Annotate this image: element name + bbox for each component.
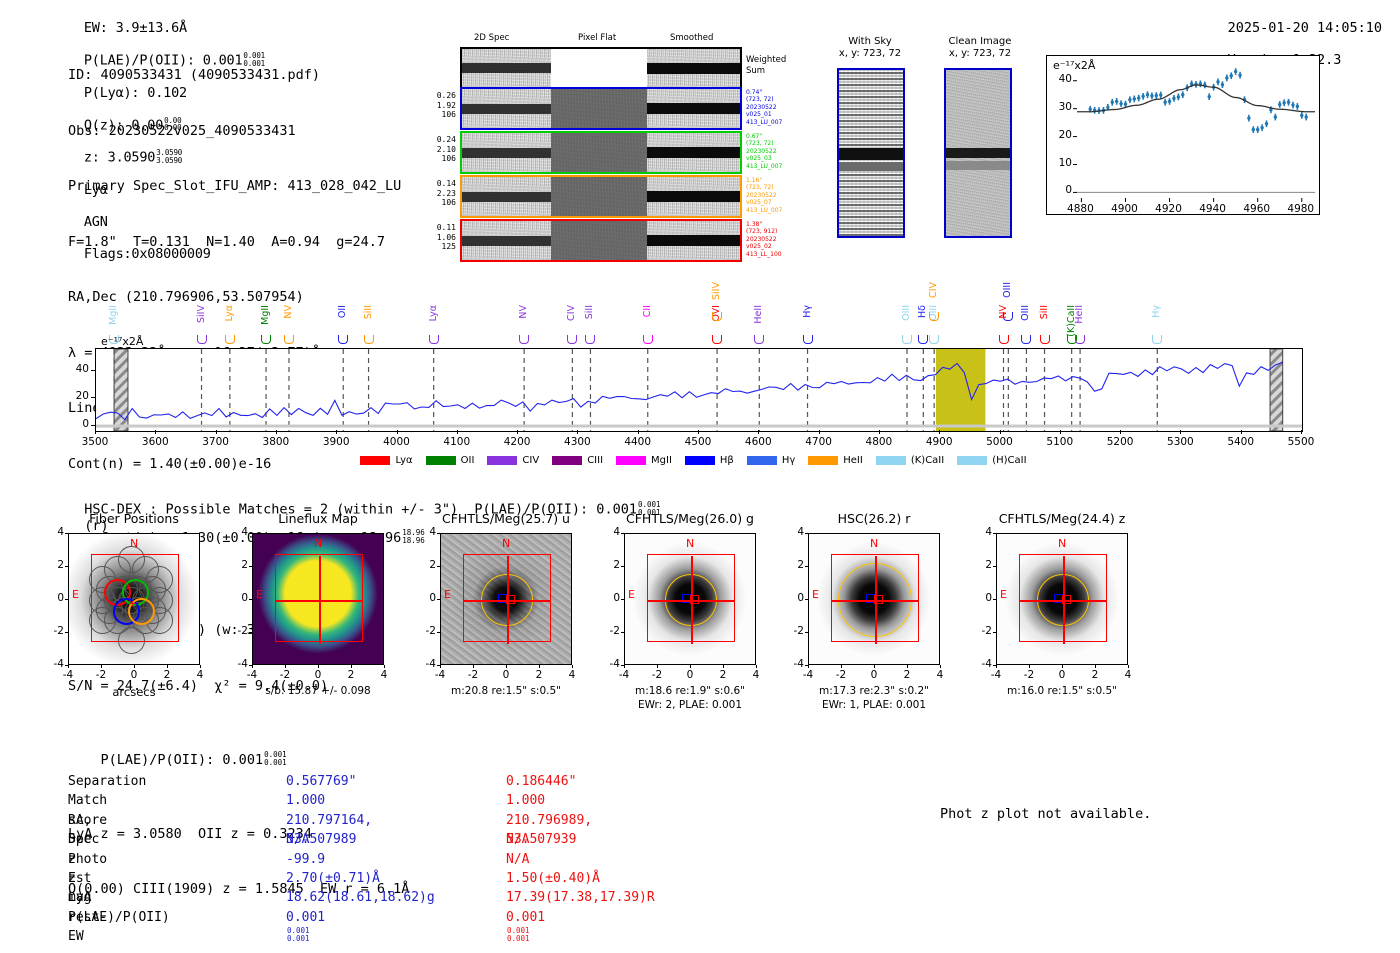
cutout-ytick-mark: [621, 566, 624, 567]
legend-swatch: [616, 456, 646, 465]
spectrum-xtick: 4200: [495, 436, 539, 448]
cutout-sublabel: m:18.6 re:1.9" s:0.6": [590, 685, 790, 697]
line-fit-ytick: 20: [1050, 129, 1072, 141]
spectrum-line-label: SiII: [363, 305, 374, 319]
spectrum-line-bracket: [929, 312, 939, 321]
spectrum-line-label: Hδ: [917, 305, 928, 318]
cutout-ytick: 2: [598, 559, 620, 571]
cutout-east-label: E: [444, 588, 451, 601]
fiber-2dspec: [462, 221, 551, 260]
spec2d-fiber-row: [460, 131, 742, 174]
spectrum-line-label: SiII: [1039, 305, 1050, 319]
cutout-north-label: N: [314, 537, 322, 550]
fiber-left-stats: 0.111.06125: [416, 223, 456, 252]
legend-label: Lyα: [395, 455, 412, 466]
cutout-xtick: 2: [709, 669, 737, 681]
spectrum-line-label: OIII: [901, 305, 912, 321]
info-primary-spec-slot: Primary Spec_Slot_IFU_AMP: 413_028_042_L…: [68, 177, 425, 196]
cutout-ytick-mark: [805, 665, 808, 666]
spectrum-line-bracket: [338, 335, 348, 344]
cutout-ytick-mark: [249, 665, 252, 666]
match-row-blue-value: 0.567769": [286, 772, 356, 791]
cutout-xtick: -2: [271, 669, 299, 681]
cutout-xtick: -4: [54, 669, 82, 681]
spectrum-xtick: 4700: [797, 436, 841, 448]
cutout-ytick-mark: [805, 533, 808, 534]
spec2d-fiber-row: [460, 87, 742, 130]
legend-entry: HeII: [808, 455, 863, 466]
cutout-axes[interactable]: [996, 533, 1128, 665]
cutout-ytick-mark: [437, 632, 440, 633]
cutout-xtick: -2: [87, 669, 115, 681]
cutout-ytick: -4: [42, 658, 64, 670]
spectrum-line-bracket: [1152, 335, 1162, 344]
cutout-xtick: -4: [426, 669, 454, 681]
match-row-red-value: 1.000: [506, 791, 545, 810]
spectrum-ytick-mark: [91, 370, 95, 371]
cutout-xtick: 0: [304, 669, 332, 681]
spectrum-xtick-mark: [1120, 430, 1121, 434]
line-fit-xtick: 4880: [1064, 203, 1096, 215]
legend-swatch: [808, 456, 838, 465]
cutout-sublabel: m:16.0 re:1.5" s:0.5": [962, 685, 1162, 697]
cutout-ytick-mark: [805, 566, 808, 567]
cutout-xtick: -2: [827, 669, 855, 681]
with-sky-image: [837, 68, 905, 238]
cutout-xtick: -4: [610, 669, 638, 681]
cutout-ytick: -2: [414, 625, 436, 637]
cutout-sublabel: m:20.8 re:1.5" s:0.5": [406, 685, 606, 697]
match-row-label: mag: [68, 888, 91, 907]
legend-label: Hβ: [720, 455, 734, 466]
spectrum-line-label: OIII: [1002, 282, 1013, 298]
cutout-ytick-mark: [65, 566, 68, 567]
spectrum-xtick: 4600: [736, 436, 780, 448]
spectrum-xtick: 5000: [978, 436, 1022, 448]
legend-swatch: [552, 456, 582, 465]
match-row-blue-value: 0.0010.0010.001: [286, 908, 325, 947]
info-seeing-params: F=1.8" T=0.131 N=1.40 A=0.94 g=24.7: [68, 233, 425, 252]
match-row-blue-value: 2.70(±0.71)Å: [286, 869, 380, 888]
spectrum-line-label: OIII: [1020, 305, 1031, 321]
spectrum-xtick-mark: [819, 430, 820, 434]
photz-note: Phot z plot not available.: [940, 806, 1151, 822]
cutout-east-label: E: [72, 588, 79, 601]
spectrum-line-bracket: [712, 312, 722, 321]
spectrum-xtick: 4400: [616, 436, 660, 448]
cutout-xtick-mark: [1062, 665, 1063, 668]
fiber-right-meta: 1.16"(723, 72)20230522v025_07413_LU_007: [746, 177, 816, 214]
match-row-red-value: 17.39(17.38,17.39)R: [506, 888, 655, 907]
spectrum-xtick-mark: [155, 430, 156, 434]
match-row-red-value: N/A: [506, 850, 529, 869]
spectrum-line-label: Hγ: [1151, 305, 1162, 318]
cutout-crosshair-v: [1063, 556, 1065, 643]
line-fit-ytick: 30: [1050, 101, 1072, 113]
spectrum-line-label: NV: [283, 305, 294, 319]
cutout-title: CFHTLS/Meg(24.4) z: [968, 511, 1156, 526]
cutout-xtick: 2: [1081, 669, 1109, 681]
match-row-red-value: 1.50(±0.40)Å: [506, 869, 600, 888]
spectrum-xtick-mark: [698, 430, 699, 434]
spectrum-xtick: 3900: [314, 436, 358, 448]
cutout-xtick-mark: [624, 665, 625, 668]
clean-image: [944, 68, 1012, 238]
cutout-ytick-mark: [805, 632, 808, 633]
cutout-ytick-mark: [993, 665, 996, 666]
fiber-2dspec: [462, 133, 551, 172]
fiber-pixelflat: [551, 221, 646, 260]
cutout-axes[interactable]: [808, 533, 940, 665]
fiber-smoothed: [647, 221, 740, 260]
cutout-xtick-mark: [134, 665, 135, 668]
cutout-ytick-mark: [993, 533, 996, 534]
spectrum-xtick-mark: [336, 430, 337, 434]
spectrum-line-bracket: [519, 335, 529, 344]
line-fit-ytick: 0: [1050, 184, 1072, 196]
cutout-ytick-mark: [993, 566, 996, 567]
spectrum-xtick-mark: [939, 430, 940, 434]
cutout-xtick: 4: [370, 669, 398, 681]
cutout-sublabel-2: EWr: 1, PLAE: 0.001: [774, 699, 974, 711]
spectrum-flux-unit: e⁻¹⁷x2Å: [101, 335, 143, 348]
legend-swatch: [426, 456, 456, 465]
cutout-xtick-mark: [572, 665, 573, 668]
spectrum-line-bracket: [803, 335, 813, 344]
cutout-axes[interactable]: [252, 533, 384, 665]
spectrum-line-label: MgII: [108, 305, 119, 325]
spectrum-xtick: 4500: [676, 436, 720, 448]
match-row-red-value: 0.0010.0010.001: [506, 908, 545, 947]
spectrum-xtick: 3500: [73, 436, 117, 448]
legend-label: OII: [461, 455, 475, 466]
spec2d-fiber-row: [460, 175, 742, 218]
cutout-xtick: 4: [926, 669, 954, 681]
spec2d-image-smoothed: [647, 49, 740, 87]
cutout-xtick-mark: [841, 665, 842, 668]
spectrum-xtick-mark: [95, 430, 96, 434]
spectrum-line-bracket: [567, 335, 577, 344]
cutout-xtick-mark: [200, 665, 201, 668]
cutout-ytick-mark: [993, 632, 996, 633]
legend-swatch: [957, 456, 987, 465]
cutout-ytick: 2: [42, 559, 64, 571]
cutout-ytick: 2: [970, 559, 992, 571]
line-fit-xtick: 4900: [1108, 203, 1140, 215]
cutout-ytick: 0: [414, 592, 436, 604]
legend-swatch: [876, 456, 906, 465]
spectrum-ytick: 40: [65, 363, 89, 375]
spectrum-line-label: SiII: [584, 305, 595, 319]
spectrum-xtick: 5100: [1038, 436, 1082, 448]
spectrum-xtick-mark: [1301, 430, 1302, 434]
spectrum-line-bracket: [754, 335, 764, 344]
cutout-sublabel-2: EWr: 2, PLAE: 0.001: [590, 699, 790, 711]
fiber-smoothed: [647, 89, 740, 128]
cutout-ytick: 2: [226, 559, 248, 571]
spectrum-line-label: MgII: [260, 305, 271, 325]
spectrum-line-label: CIV: [928, 282, 939, 298]
cutout-ytick: 4: [226, 526, 248, 538]
cutout-ytick-mark: [621, 599, 624, 600]
cutout-ytick: -2: [598, 625, 620, 637]
cutout-ytick: -4: [414, 658, 436, 670]
spectrum-line-bracket: [284, 335, 294, 344]
spectrum-line-bracket: [712, 335, 722, 344]
match-row-red-value: N/A: [506, 830, 529, 849]
spec2d-weighted-sum-label: WeightedSum: [746, 55, 786, 76]
spectrum-xtick-mark: [397, 430, 398, 434]
spec2d-col-title-pixelflat: Pixel Flat: [578, 33, 616, 43]
cutout-sublabel: m:17.3 re:2.3" s:0.2": [774, 685, 974, 697]
cutout-ytick: 0: [782, 592, 804, 604]
spectrum-xtick: 5300: [1158, 436, 1202, 448]
cutout-xtick: 4: [1114, 669, 1142, 681]
cutout-title: CFHTLS/Meg(25.7) u: [412, 511, 600, 526]
legend-swatch: [685, 456, 715, 465]
cutout-xtick-mark: [440, 665, 441, 668]
legend-entry: CIV: [487, 455, 539, 466]
cutout-xtick-mark: [907, 665, 908, 668]
spectrum-xtick-mark: [457, 430, 458, 434]
spectrum-line-label: NV: [998, 305, 1009, 319]
cutout-ytick: 0: [226, 592, 248, 604]
cutout-crosshair-v: [691, 556, 693, 643]
cutout-ytick-mark: [437, 533, 440, 534]
cutout-ytick: -2: [226, 625, 248, 637]
spectrum-line-bracket: [364, 335, 374, 344]
legend-entry: (H)CaII: [957, 455, 1026, 466]
fiber-right-meta: 1.38"(723, 912)20230522v025_02413_LL_100: [746, 221, 816, 258]
cutout-xtick: -2: [1015, 669, 1043, 681]
cutout-xtick: 0: [492, 669, 520, 681]
cutout-ytick: -4: [970, 658, 992, 670]
match-row-blue-value: -99.9: [286, 850, 325, 869]
spectrum-xtick: 3700: [194, 436, 238, 448]
spectrum-line-bracket: [1075, 335, 1085, 344]
cutout-east-label: E: [1000, 588, 1007, 601]
spectrum-ytick: 0: [65, 418, 89, 430]
cutout-ytick: -2: [782, 625, 804, 637]
legend-label: (H)CaII: [992, 455, 1026, 466]
line-fit-xtick: 4980: [1285, 203, 1317, 215]
cutout-ytick-mark: [65, 665, 68, 666]
cutout-ytick: 0: [598, 592, 620, 604]
cutout-center-marker: +: [129, 597, 136, 610]
cutout-xtick: 2: [893, 669, 921, 681]
cutout-xtick-mark: [808, 665, 809, 668]
spectrum-line-label: CII: [642, 305, 653, 317]
legend-entry: CIII: [552, 455, 603, 466]
cutout-xtick-mark: [252, 665, 253, 668]
match-row-red-value: 0.186446": [506, 772, 576, 791]
spectrum-xtick: 4800: [857, 436, 901, 448]
info-obs: Obs: 20230522v025_4090533431: [68, 122, 425, 141]
cutout-ytick: 2: [782, 559, 804, 571]
cutout-xtick-mark: [473, 665, 474, 668]
legend-entry: Hγ: [747, 455, 795, 466]
spectrum-xtick: 5500: [1279, 436, 1323, 448]
cutout-xtick-mark: [539, 665, 540, 668]
spectrum-xtick: 5200: [1098, 436, 1142, 448]
legend-swatch: [747, 456, 777, 465]
spectrum-line-bracket: [261, 335, 271, 344]
cutout-ytick: 4: [598, 526, 620, 538]
cutout-xtick: -4: [982, 669, 1010, 681]
match-row-label: P(LAE)/P(OII): [68, 908, 170, 927]
legend-label: CIV: [522, 455, 539, 466]
cutout-xtick: 2: [525, 669, 553, 681]
spec2d-col-title-smoothed: Smoothed: [670, 33, 713, 43]
cutout-axes[interactable]: +: [68, 533, 200, 665]
cutout-xtick-mark: [167, 665, 168, 668]
cutout-xlabel: arcsecs: [48, 685, 220, 699]
legend-entry: OII: [426, 455, 475, 466]
legend-entry: MgII: [616, 455, 672, 466]
fiber-right-meta: 0.67"(723, 72)20230522v025_03413_LU_007: [746, 133, 816, 170]
legend-entry: Hβ: [685, 455, 734, 466]
cutout-ytick-mark: [249, 632, 252, 633]
fiber-left-stats: 0.242.10106: [416, 135, 456, 164]
cutout-ytick-mark: [621, 665, 624, 666]
hscdex-header: HSC-DEX : Possible Matches = 2 (within +…: [68, 485, 661, 534]
spectrum-line-label: NV: [518, 305, 529, 319]
legend-label: MgII: [651, 455, 672, 466]
spectrum-xtick-mark: [1180, 430, 1181, 434]
fiber-right-meta: 0.74"(723, 72)20230522v025_01413_LU_007: [746, 89, 816, 126]
cutout-xtick-mark: [996, 665, 997, 668]
line-fit-xtick: 4960: [1241, 203, 1273, 215]
spectrum-xtick-mark: [758, 430, 759, 434]
cutout-axes[interactable]: [624, 533, 756, 665]
cutout-xtick: -2: [459, 669, 487, 681]
spectrum-xtick-mark: [879, 430, 880, 434]
cutout-xtick-mark: [874, 665, 875, 668]
cutout-ytick-mark: [249, 599, 252, 600]
cutout-crosshair-v: [319, 556, 321, 643]
cutout-axes[interactable]: [440, 533, 572, 665]
cutout-title: CFHTLS/Meg(26.0) g: [596, 511, 784, 526]
cutout-north-label: N: [686, 537, 694, 550]
fiber-pixelflat: [551, 177, 646, 216]
spectrum-line-label: SiIV: [711, 282, 722, 300]
spectrum-line-bracket: [902, 335, 912, 344]
spectrum-line-bracket: [197, 335, 207, 344]
cutout-xtick-mark: [68, 665, 69, 668]
with-sky-caption: With Skyx, y: 723, 72: [824, 36, 916, 60]
spectrum-xtick-mark: [517, 430, 518, 434]
cutout-xtick: 0: [1048, 669, 1076, 681]
cutout-ytick-mark: [65, 533, 68, 534]
cutout-ytick-mark: [437, 566, 440, 567]
spectrum-xtick: 4100: [435, 436, 479, 448]
spectrum-xtick-mark: [276, 430, 277, 434]
cutout-xtick-mark: [384, 665, 385, 668]
legend-label: HeII: [843, 455, 863, 466]
cutout-ytick: 4: [42, 526, 64, 538]
line-fit-ytick: 10: [1050, 157, 1072, 169]
cutout-ytick-mark: [993, 599, 996, 600]
spec2d-col-title-2dspec: 2D Spec: [474, 33, 509, 43]
fiber-smoothed: [647, 133, 740, 172]
cutout-xtick-mark: [940, 665, 941, 668]
cutout-title: Fiber Positions: [40, 511, 228, 526]
legend-entry: Lyα: [360, 455, 412, 466]
spectrum-ytick-mark: [91, 425, 95, 426]
spectrum-xtick-mark: [1000, 430, 1001, 434]
fiber-left-stats: 0.142.23106: [416, 179, 456, 208]
spectrum-line-label: Lyα: [428, 305, 439, 321]
cutout-ytick: -2: [42, 625, 64, 637]
match-row-label: Separation: [68, 772, 146, 791]
cutout-north-label: N: [130, 537, 138, 550]
cutout-ytick: 0: [970, 592, 992, 604]
cutout-title: Lineflux Map: [224, 511, 412, 526]
spec2d-image-pixelflat: [551, 49, 646, 87]
cutout-title: HSC(26.2) r: [780, 511, 968, 526]
cutout-xtick: 4: [186, 669, 214, 681]
cutout-ytick-mark: [249, 566, 252, 567]
line-fit-plot: e⁻¹⁷x2Å: [1046, 55, 1320, 215]
spectrum-xtick-mark: [216, 430, 217, 434]
legend-label: CIII: [587, 455, 603, 466]
fiber-2dspec: [462, 89, 551, 128]
cutout-xtick: 0: [860, 669, 888, 681]
spectrum-line-bracket: [1021, 335, 1031, 344]
legend-entry: (K)CaII: [876, 455, 944, 466]
cutout-ytick-mark: [249, 533, 252, 534]
cutout-xtick-mark: [506, 665, 507, 668]
spectrum-line-label: Lyα: [224, 305, 235, 321]
cutout-east-label: E: [628, 588, 635, 601]
spectrum-xtick: 3800: [254, 436, 298, 448]
cutout-ytick: -4: [782, 658, 804, 670]
spectrum-line-label: SiIV: [196, 305, 207, 323]
cutout-north-label: N: [502, 537, 510, 550]
spectrum-xtick-mark: [577, 430, 578, 434]
cutout-ytick: 4: [782, 526, 804, 538]
cutout-xtick-mark: [657, 665, 658, 668]
legend-label: Hγ: [782, 455, 795, 466]
spectrum-legend: Lyα OII CIV CIII MgII Hβ Hγ HeII (K)CaII…: [0, 455, 1400, 466]
legend-label: (K)CaII: [911, 455, 944, 466]
cutout-xtick: 4: [742, 669, 770, 681]
spectrum-ytick: 20: [65, 390, 89, 402]
cutout-xtick-mark: [101, 665, 102, 668]
cutout-ytick-mark: [65, 632, 68, 633]
spectrum-xtick: 3600: [133, 436, 177, 448]
cutout-xtick-mark: [723, 665, 724, 668]
cutout-ytick-mark: [805, 599, 808, 600]
cutout-xtick-mark: [1128, 665, 1129, 668]
cutout-east-label: E: [256, 588, 263, 601]
spectrum-line-label: HeII: [753, 305, 764, 324]
info-id: ID: 4090533431 (4090533431.pdf): [68, 66, 425, 85]
legend-swatch: [360, 456, 390, 465]
line-fit-xtick: 4920: [1153, 203, 1185, 215]
fiber-pixelflat: [551, 89, 646, 128]
match-row-blue-value: 1.000: [286, 791, 325, 810]
cutout-ytick: 4: [414, 526, 436, 538]
cutout-crosshair-v: [875, 556, 877, 643]
spectrum-line-label: HeII: [1074, 305, 1085, 324]
spectrum-xtick: 4300: [555, 436, 599, 448]
match-row-blue-value: 18.62(18.61,18.62)g: [286, 888, 435, 907]
cutout-xtick: -4: [238, 669, 266, 681]
header-datetime: 2025-01-20 14:05:10: [1228, 20, 1382, 36]
spectrum-line-label: OII: [337, 305, 348, 318]
spectrum-line-bracket: [999, 335, 1009, 344]
